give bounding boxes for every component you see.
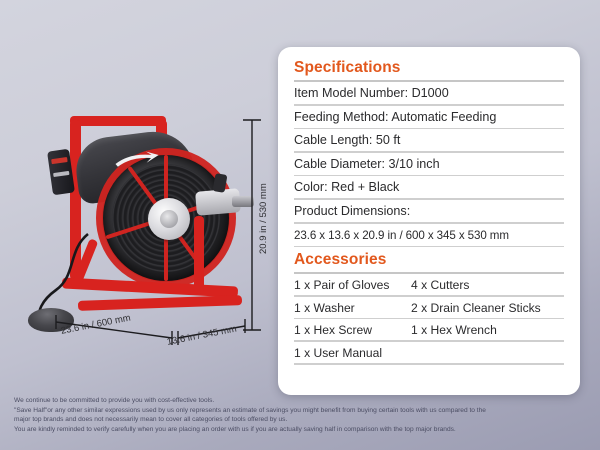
divider: [294, 151, 564, 153]
spec-row: Product Dimensions:: [294, 203, 564, 221]
disclaimer-line: major top brands and does not necessaril…: [14, 415, 590, 425]
accessory-item: 2 x Drain Cleaner Sticks: [411, 300, 541, 317]
spec-row: Color: Red + Black: [294, 179, 564, 197]
product-image: [18, 112, 253, 327]
divider: [294, 318, 564, 320]
accessory-item: 1 x User Manual: [294, 345, 411, 362]
divider: [294, 222, 564, 224]
switch-strip: [53, 171, 69, 177]
spec-row: 23.6 x 13.6 x 20.9 in / 600 x 345 x 530 …: [294, 227, 564, 245]
disclaimer-line: You are kindly reminded to verify carefu…: [14, 425, 590, 435]
cable-drum: [102, 154, 230, 282]
accessory-item: 1 x Hex Wrench: [411, 322, 497, 339]
accessory-row: 1 x User Manual: [294, 345, 564, 362]
accessory-row: 1 x Washer 2 x Drain Cleaner Sticks: [294, 300, 564, 317]
specifications-panel: Specifications Item Model Number: D1000 …: [278, 47, 580, 395]
drum-rim: [96, 148, 236, 288]
spec-row: Feeding Method: Automatic Feeding: [294, 109, 564, 127]
accessory-item: 4 x Cutters: [411, 277, 469, 294]
accessory-item: 1 x Washer: [294, 300, 411, 317]
feed-nose: [232, 196, 254, 207]
spec-row: Item Model Number: D1000: [294, 85, 564, 103]
specifications-heading: Specifications: [294, 58, 564, 79]
divider: [294, 198, 564, 200]
divider: [294, 363, 564, 365]
frame-front-leg: [194, 216, 204, 294]
accessories-heading: Accessories: [294, 250, 564, 271]
disclaimer-line: "Save Half"or any other similar expressi…: [14, 406, 590, 416]
divider: [294, 175, 564, 177]
accessory-item: 1 x Pair of Gloves: [294, 277, 411, 294]
accessory-row: 1 x Pair of Gloves 4 x Cutters: [294, 277, 564, 294]
accessory-item: 1 x Hex Screw: [294, 322, 411, 339]
spec-row: Cable Diameter: 3/10 inch: [294, 156, 564, 174]
spec-row: Cable Length: 50 ft: [294, 132, 564, 150]
divider: [294, 340, 564, 342]
accessory-row: 1 x Hex Screw 1 x Hex Wrench: [294, 322, 564, 339]
dimension-label-depth: 13.6 in / 345 mm: [166, 323, 238, 347]
switch-brand-label: [51, 157, 68, 164]
frame-base-rail-rear: [78, 295, 242, 311]
disclaimer-line: We continue to be committed to provide y…: [14, 396, 590, 406]
divider: [294, 272, 564, 274]
divider: [294, 295, 564, 297]
divider: [294, 104, 564, 106]
disclaimer-text: We continue to be committed to provide y…: [14, 396, 590, 434]
divider: [294, 128, 564, 130]
divider: [294, 246, 564, 248]
divider: [294, 80, 564, 82]
dimension-label-height: 20.9 in / 530 mm: [258, 183, 269, 254]
frame-handle-loop: [70, 116, 166, 126]
